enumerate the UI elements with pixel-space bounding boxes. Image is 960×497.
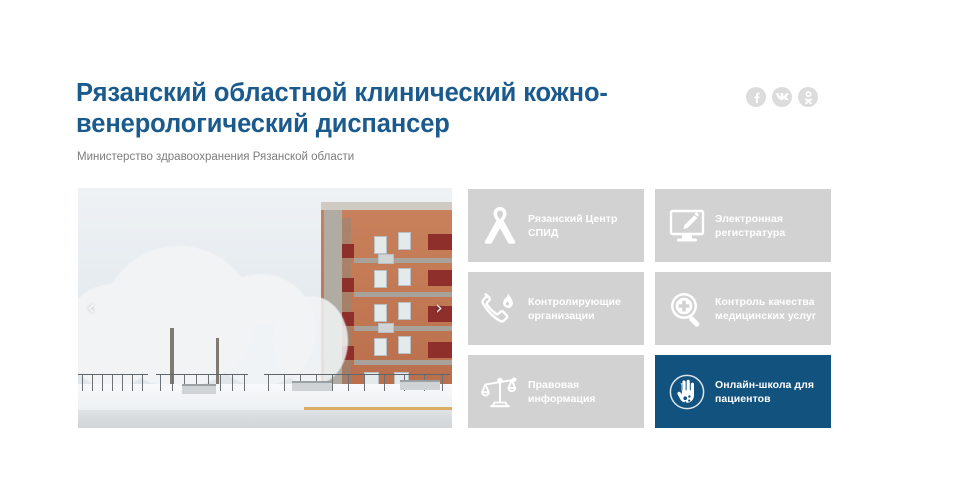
social-links xyxy=(746,87,818,107)
balcony-slab xyxy=(354,360,452,365)
tile-label-line-2: пациентов xyxy=(715,392,814,406)
bench xyxy=(292,381,332,391)
tile-label-line-2: регистратура xyxy=(715,226,785,240)
tile-online-school-for-patients[interactable]: Онлайн-школа для пациентов xyxy=(655,355,831,428)
bench xyxy=(182,384,216,394)
road xyxy=(78,410,452,428)
tile-supervising-organizations[interactable]: Контролирующие организации xyxy=(468,272,644,345)
tile-label-line-1: Правовая xyxy=(528,378,596,392)
tile-label-line-2: информация xyxy=(528,392,596,406)
monitor-pencil-icon xyxy=(665,204,709,248)
scales-icon xyxy=(478,370,522,414)
hand-icon xyxy=(665,370,709,414)
tile-label: Контроль качества медицинских услуг xyxy=(715,295,816,323)
tile-label: Контролирующие организации xyxy=(528,295,621,323)
tile-label: Электронная регистратура xyxy=(715,212,785,240)
balcony-red xyxy=(342,244,354,258)
tile-label-line-1: Контролирующие xyxy=(528,295,621,309)
page-root: Рязанский областной клинический кожно- в… xyxy=(0,0,960,497)
tile-label: Онлайн-школа для пациентов xyxy=(715,378,814,406)
tree-foliage xyxy=(274,296,348,386)
vkontakte-icon[interactable] xyxy=(772,87,792,107)
page-subtitle: Министерство здравоохранения Рязанской о… xyxy=(77,150,354,164)
image-carousel[interactable]: ‹ › xyxy=(78,188,452,428)
tile-label-line-1: Контроль качества xyxy=(715,295,816,309)
window xyxy=(374,304,387,322)
window xyxy=(398,232,411,250)
fence xyxy=(78,374,148,391)
magnifier-cross-icon xyxy=(665,287,709,331)
window xyxy=(398,302,411,320)
air-conditioner xyxy=(378,254,394,264)
tile-label-line-2: медицинских услуг xyxy=(715,309,816,323)
balcony-red xyxy=(428,234,452,250)
balcony-red xyxy=(342,278,354,292)
balcony-red xyxy=(428,342,452,358)
tile-legal-information[interactable]: Правовая информация xyxy=(468,355,644,428)
tile-label-line-1: Онлайн-школа для xyxy=(715,378,814,392)
window xyxy=(398,268,411,286)
window xyxy=(374,270,387,288)
tile-label: Правовая информация xyxy=(528,378,596,406)
tile-medical-quality-control[interactable]: Контроль качества медицинских услуг xyxy=(655,272,831,345)
tile-label: Рязанский Центр СПИД xyxy=(528,212,617,240)
tile-label-line-1: Рязанский Центр xyxy=(528,212,617,226)
window xyxy=(374,236,387,254)
balcony-red xyxy=(428,270,452,286)
window xyxy=(374,338,387,356)
page-title: Рязанский областной клинический кожно- в… xyxy=(76,78,676,140)
balcony-slab xyxy=(354,258,452,263)
carousel-next-arrow[interactable]: › xyxy=(428,293,450,323)
facebook-icon[interactable] xyxy=(746,87,766,107)
site-header: Рязанский областной клинический кожно- в… xyxy=(0,0,960,180)
odnoklassniki-icon[interactable] xyxy=(798,87,818,107)
carousel-prev-arrow[interactable]: ‹ xyxy=(80,293,102,323)
balcony-slab xyxy=(354,326,452,331)
tile-label-line-2: организации xyxy=(528,309,621,323)
page-title-line-2: венерологический диспансер xyxy=(76,109,676,140)
page-title-line-1: Рязанский областной клинический кожно- xyxy=(76,78,676,109)
air-conditioner xyxy=(378,323,394,333)
tile-ryazan-aids-center[interactable]: Рязанский Центр СПИД xyxy=(468,189,644,262)
window xyxy=(398,336,411,354)
phone-flame-icon xyxy=(478,287,522,331)
tile-electronic-registry[interactable]: Электронная регистратура xyxy=(655,189,831,262)
tile-label-line-1: Электронная xyxy=(715,212,785,226)
bench xyxy=(400,380,440,390)
ribbon-icon xyxy=(478,204,522,248)
quick-links-grid: Рязанский Центр СПИД Электронная регистр… xyxy=(468,189,831,428)
carousel-slide-image xyxy=(78,188,452,428)
tile-label-line-2: СПИД xyxy=(528,226,617,240)
